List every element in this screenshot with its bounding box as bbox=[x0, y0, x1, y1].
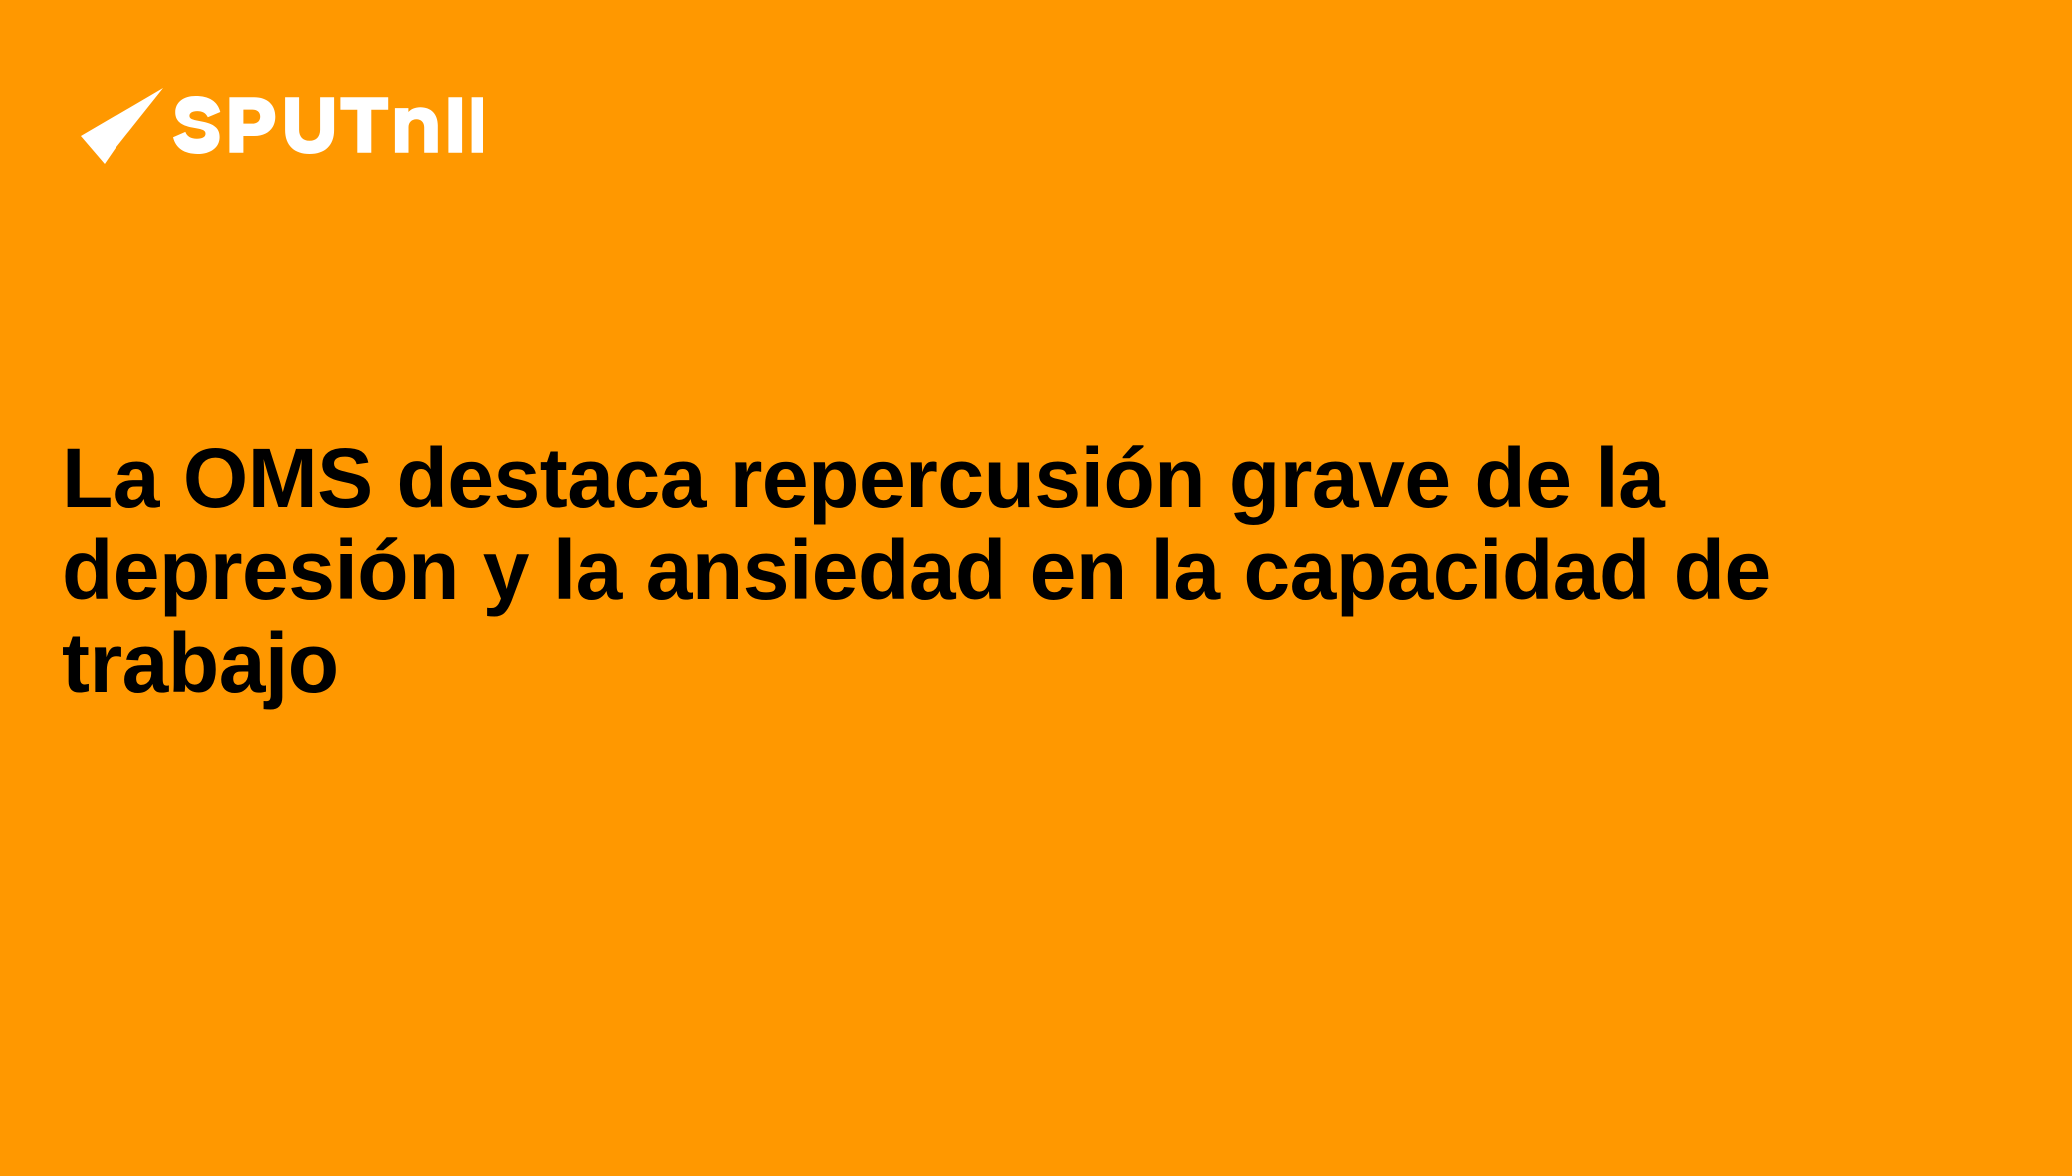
article-headline: La OMS destaca repercusión grave de la d… bbox=[62, 432, 2022, 709]
social-share-card: SPUTNIK La OMS destaca repercusión grave… bbox=[0, 0, 2072, 1176]
sputnik-arrow-icon bbox=[75, 88, 167, 164]
sputnik-wordmark bbox=[173, 96, 483, 156]
sputnik-logo[interactable]: SPUTNIK bbox=[75, 86, 483, 166]
